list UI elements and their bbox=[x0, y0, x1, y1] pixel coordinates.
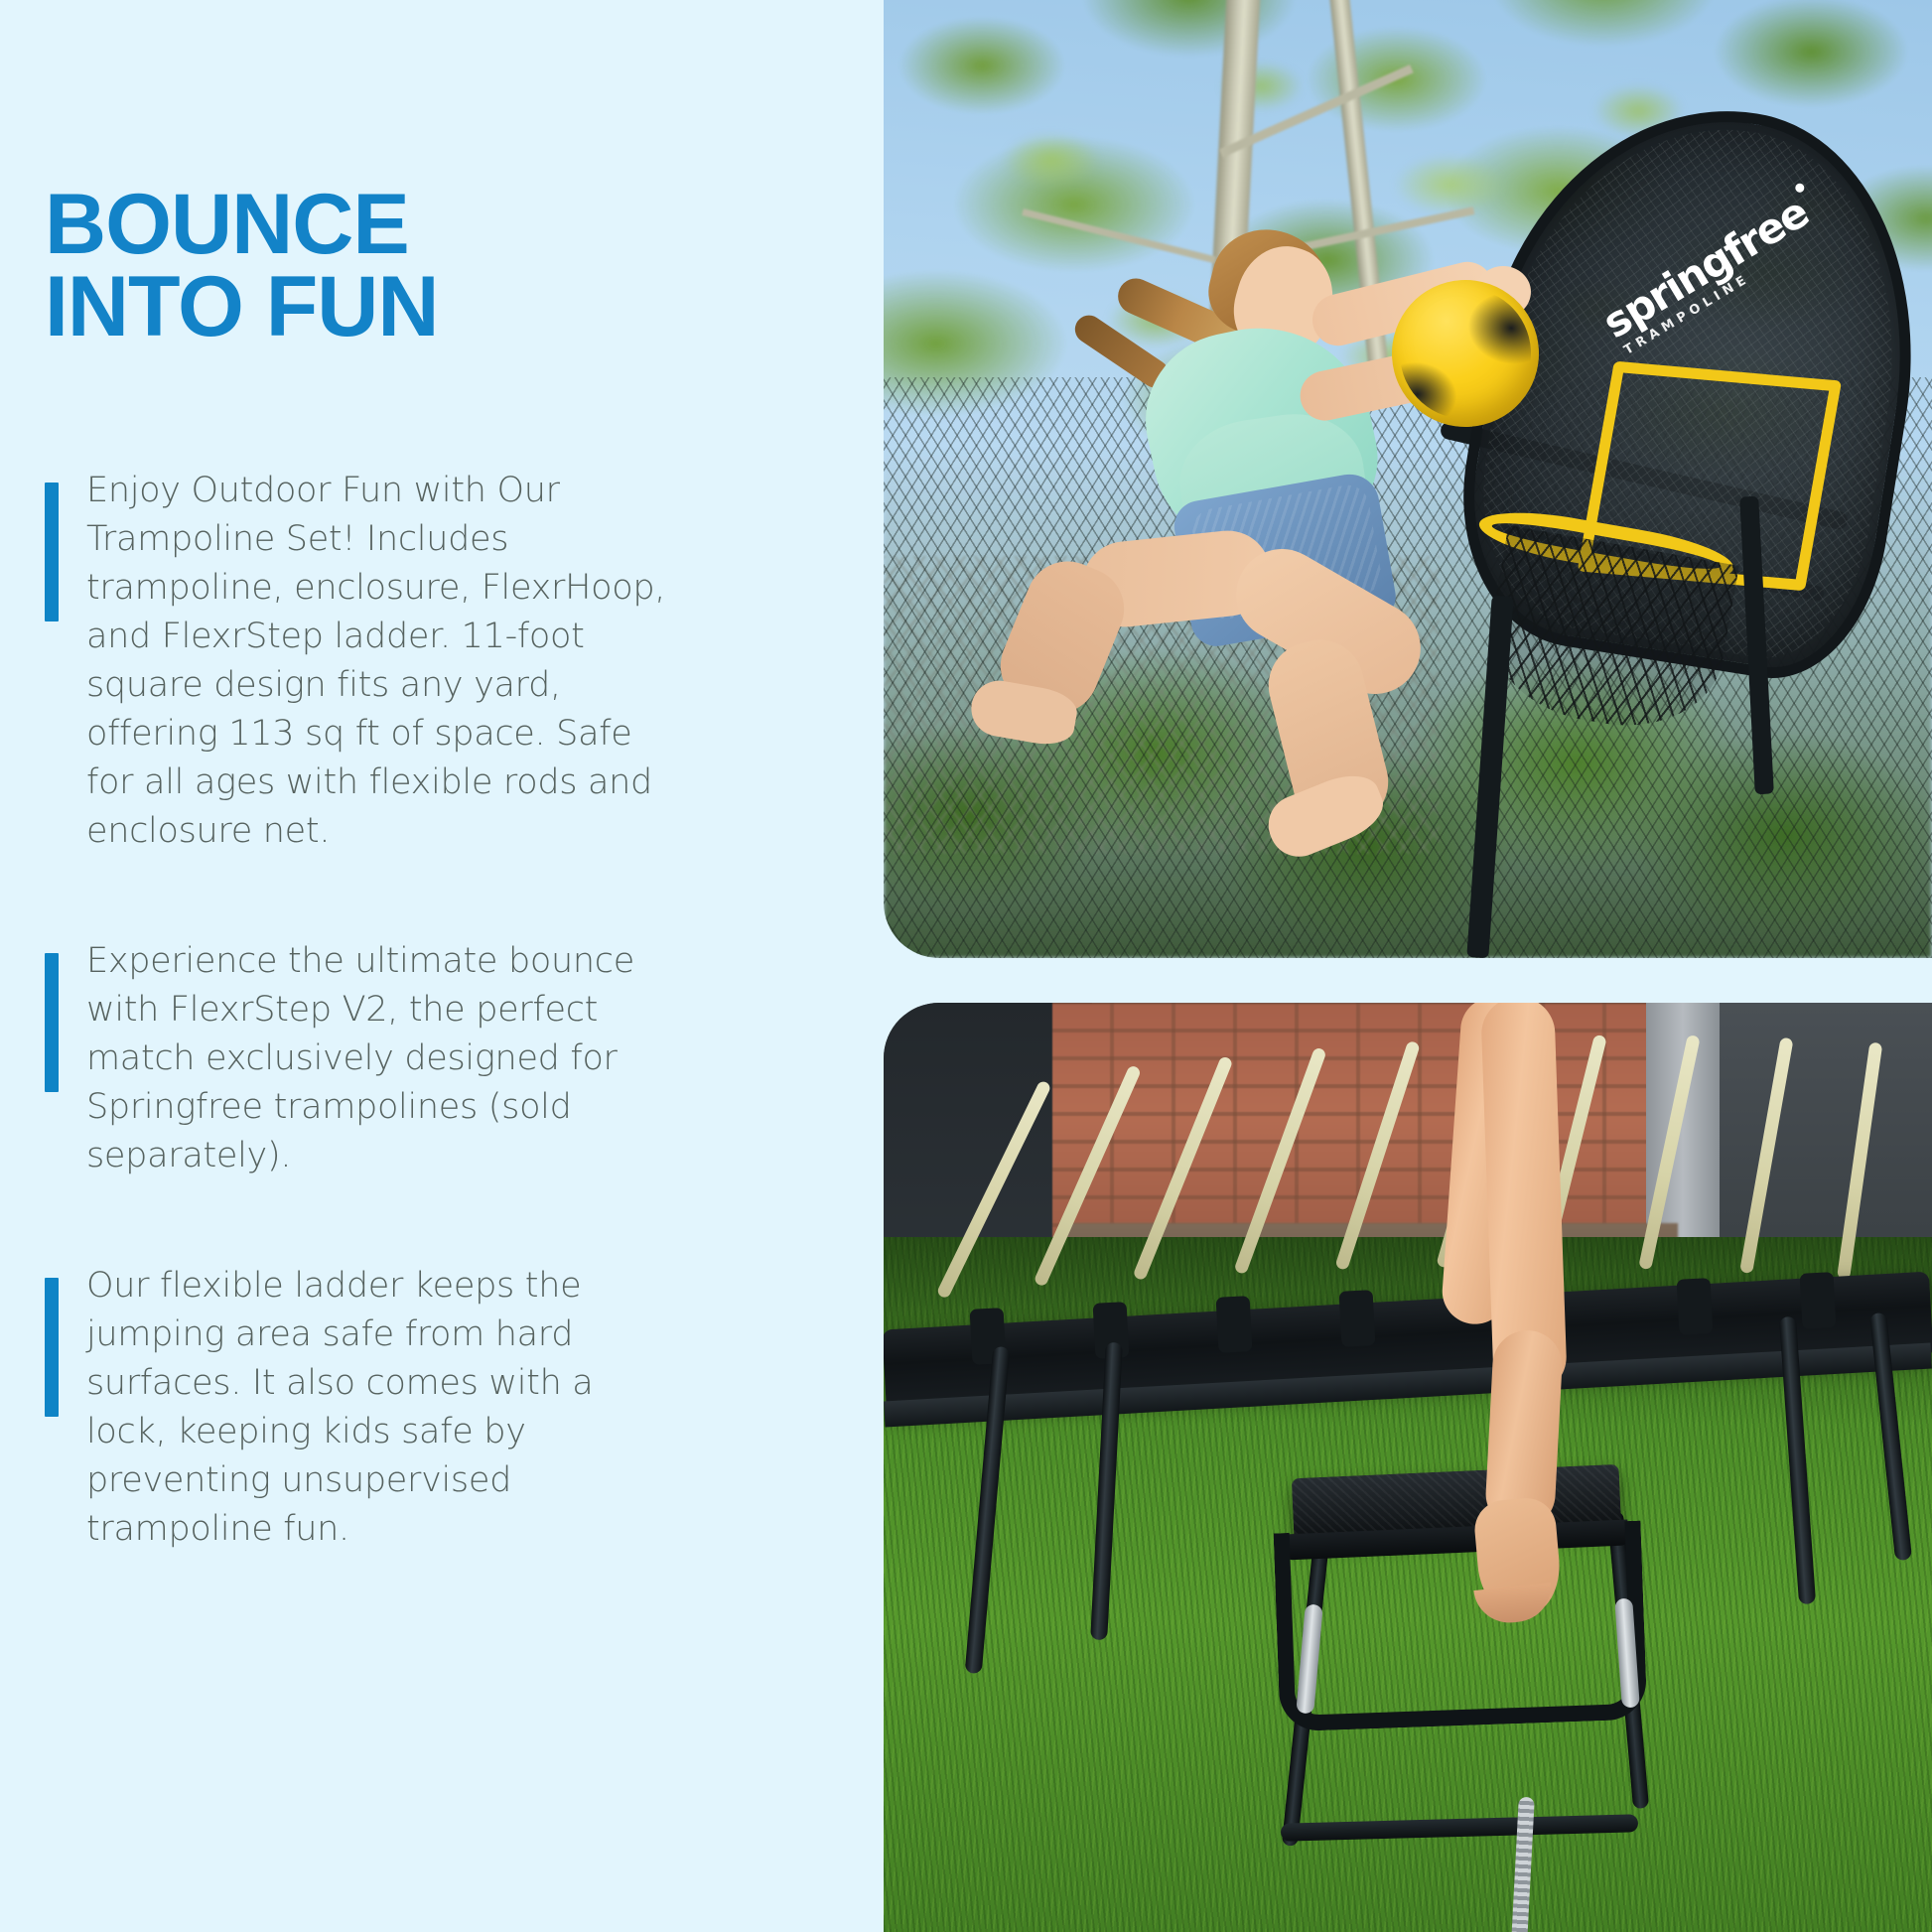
photo-flexrstep-ladder bbox=[884, 1003, 1932, 1932]
rod-clip bbox=[1216, 1296, 1253, 1353]
page-title: BOUNCE INTO FUN bbox=[45, 184, 884, 349]
feature-text: Enjoy Outdoor Fun with Our Trampoline Se… bbox=[86, 467, 680, 856]
rod-clip bbox=[1800, 1272, 1837, 1329]
rod-clip bbox=[1677, 1278, 1714, 1335]
feature-item: Enjoy Outdoor Fun with Our Trampoline Se… bbox=[45, 467, 680, 856]
accent-bar-icon bbox=[45, 483, 59, 621]
accent-bar-icon bbox=[45, 953, 59, 1092]
feature-item: Experience the ultimate bounce with Flex… bbox=[45, 937, 680, 1180]
feature-item: Our flexible ladder keeps the jumping ar… bbox=[45, 1262, 680, 1554]
rod-clip bbox=[1339, 1290, 1376, 1347]
photo-trampoline-dunk: springfree TRAMPOLINE bbox=[884, 0, 1932, 958]
feature-text: Our flexible ladder keeps the jumping ar… bbox=[86, 1262, 680, 1554]
text-column: BOUNCE INTO FUN Enjoy Outdoor Fun with O… bbox=[0, 0, 884, 1932]
ladder-frame bbox=[1274, 1521, 1648, 1732]
infographic-root: BOUNCE INTO FUN Enjoy Outdoor Fun with O… bbox=[0, 0, 1932, 1932]
feature-list: Enjoy Outdoor Fun with Our Trampoline Se… bbox=[45, 467, 884, 1554]
photo-top-scene: springfree TRAMPOLINE bbox=[884, 0, 1932, 958]
feature-text: Experience the ultimate bounce with Flex… bbox=[86, 937, 680, 1180]
photo-bottom-scene bbox=[884, 1003, 1932, 1932]
accent-bar-icon bbox=[45, 1278, 59, 1417]
